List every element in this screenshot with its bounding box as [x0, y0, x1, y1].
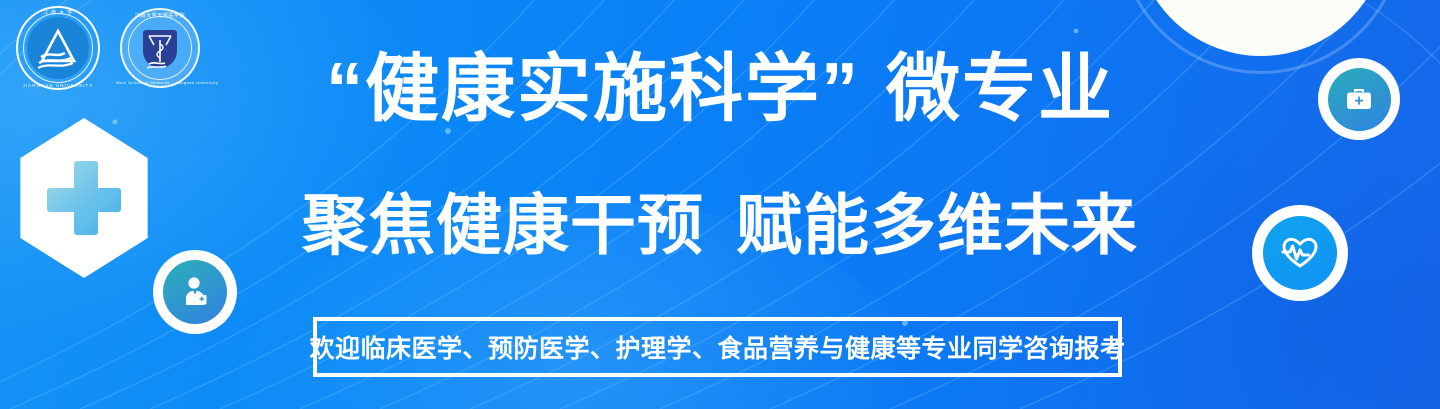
doctor-badge [153, 250, 237, 334]
subtitle-part2: 赋能多维未来 [736, 188, 1138, 262]
page-title: “健康实施科学”微专业 [0, 52, 1440, 126]
jnu-arc-top-text: 江 南 大 学 [14, 9, 102, 16]
subtitle-part1: 聚焦健康干预 [302, 188, 704, 262]
title-part1: “健康实施科学” [326, 47, 860, 130]
corner-white-circle [1135, 0, 1387, 56]
cta-text: 欢迎临床医学、预防医学、护理学、食品营养与健康等专业同学咨询报考 [310, 329, 1126, 365]
wsm-arc-top-text: 江南大学无锡医学院 [116, 12, 204, 19]
title-part2: 微专业 [886, 47, 1114, 130]
promo-banner: 江 南 大 学 JIANGNAN UNIVERSITY 江南大学无锡医学院 Wu… [0, 0, 1440, 409]
doctor-badge-inner [163, 260, 227, 324]
page-subtitle: 聚焦健康干预赋能多维未来 [0, 192, 1440, 258]
doctor-icon [177, 274, 213, 310]
cta-box[interactable]: 欢迎临床医学、预防医学、护理学、食品营养与健康等专业同学咨询报考 [313, 317, 1122, 377]
